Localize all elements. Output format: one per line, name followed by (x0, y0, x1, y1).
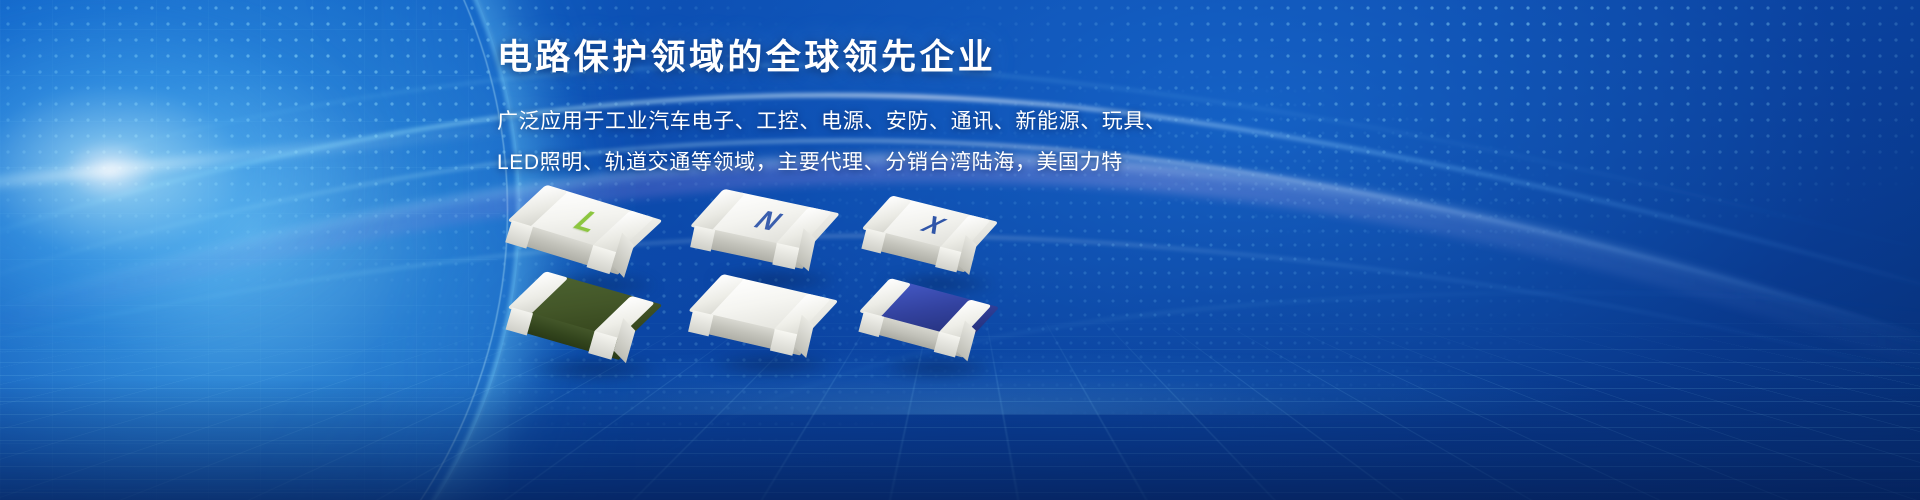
subtitle-line-1: 广泛应用于工业汽车电子、工控、电源、安防、通讯、新能源、玩具、 (497, 101, 1197, 142)
page-title: 电路保护领域的全球领先企业 (497, 38, 1197, 78)
product-fuse-dark-green (530, 282, 652, 376)
promo-banner: 电路保护领域的全球领先企业 广泛应用于工业汽车电子、工控、电源、安防、通讯、新能… (0, 0, 1920, 500)
subtitle-line-2: LED照明、轨道交通等领域，主要代理、分销台湾陆海，美国力特 (497, 142, 1197, 183)
product-fuse-plain-white (710, 282, 830, 374)
product-fuse-blue-top (878, 288, 996, 376)
banner-subtitle: 广泛应用于工业汽车电子、工控、电源、安防、通讯、新能源、玩具、 LED照明、轨道… (497, 101, 1197, 183)
banner-text-block: 电路保护领域的全球领先企业 广泛应用于工业汽车电子、工控、电源、安防、通讯、新能… (497, 38, 1197, 183)
